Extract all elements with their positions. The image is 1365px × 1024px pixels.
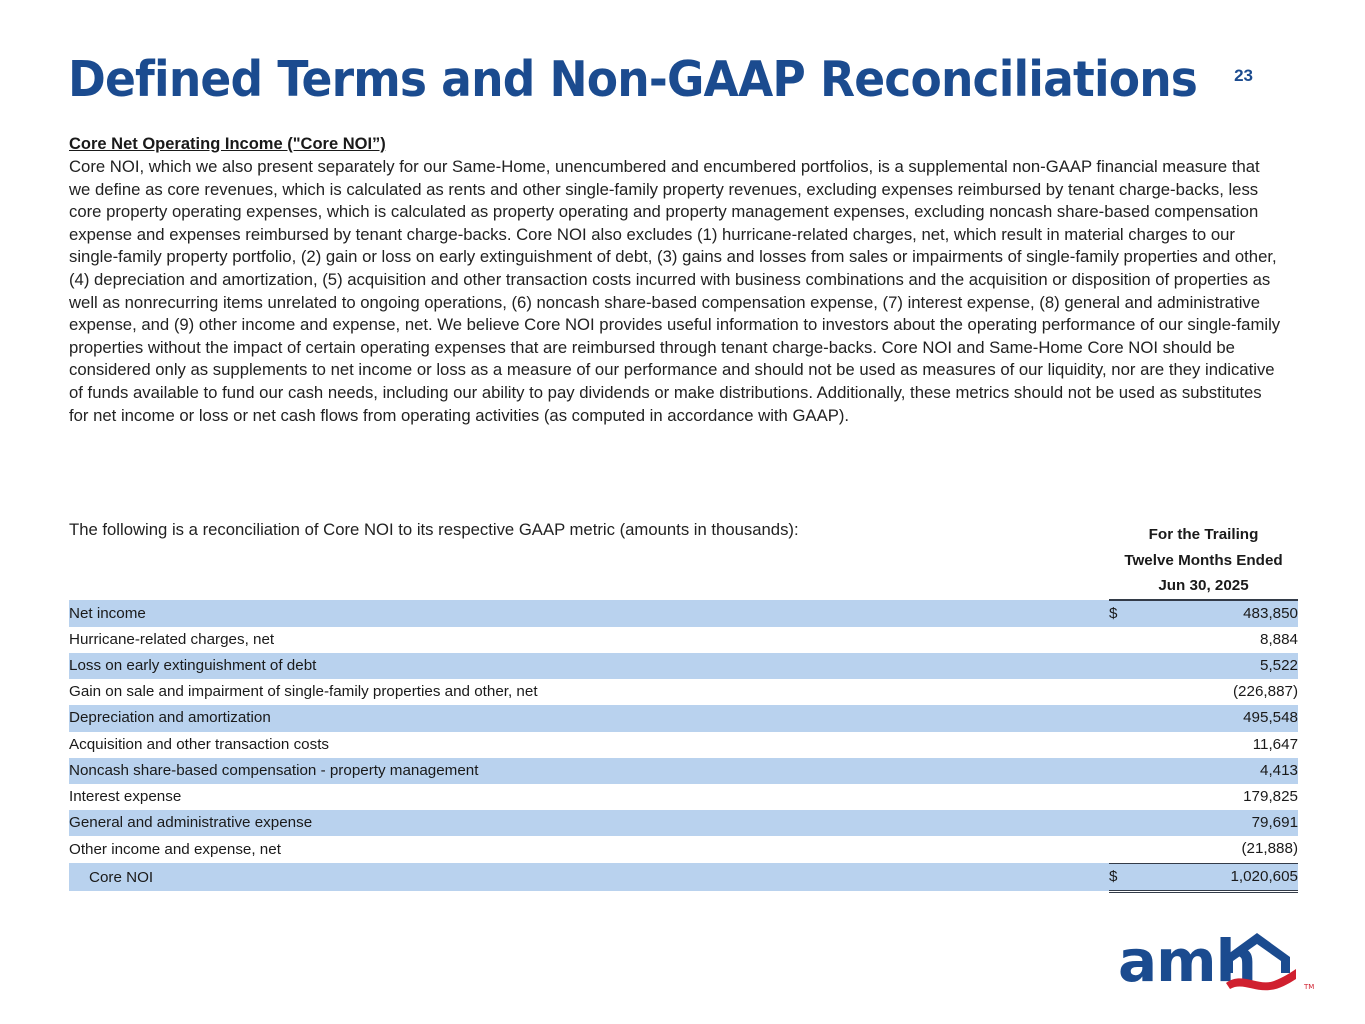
row-label: Hurricane-related charges, net (69, 627, 1109, 653)
definition-paragraph: Core NOI, which we also present separate… (69, 156, 1284, 427)
row-value: 5,522 (1147, 653, 1298, 679)
table-row: Gain on sale and impairment of single-fa… (69, 679, 1298, 705)
currency-symbol (1109, 653, 1147, 679)
table-row: Acquisition and other transaction costs1… (69, 732, 1298, 758)
currency-symbol (1109, 627, 1147, 653)
slide: Defined Terms and Non-GAAP Reconciliatio… (0, 0, 1365, 1024)
header-spacer (69, 522, 1109, 548)
table-row: Other income and expense, net(21,888) (69, 836, 1298, 863)
row-label: Net income (69, 600, 1109, 627)
table-body: Net income$483,850Hurricane-related char… (69, 600, 1298, 892)
row-label: General and administrative expense (69, 810, 1109, 836)
row-label: Loss on early extinguishment of debt (69, 653, 1109, 679)
row-value: 1,020,605 (1147, 863, 1298, 891)
row-label: Depreciation and amortization (69, 705, 1109, 731)
page-title: Defined Terms and Non-GAAP Reconciliatio… (68, 52, 1221, 108)
row-value: 4,413 (1147, 758, 1298, 784)
title-row: Defined Terms and Non-GAAP Reconciliatio… (68, 52, 1308, 114)
header-spacer (69, 548, 1109, 574)
currency-symbol (1109, 679, 1147, 705)
currency-symbol (1109, 784, 1147, 810)
table-row: Depreciation and amortization495,548 (69, 705, 1298, 731)
table-head: For the Trailing Twelve Months Ended Jun… (69, 522, 1298, 600)
row-value: 8,884 (1147, 627, 1298, 653)
currency-symbol: $ (1109, 600, 1147, 627)
currency-symbol (1109, 705, 1147, 731)
trademark-symbol: TM (1303, 983, 1314, 991)
currency-symbol (1109, 758, 1147, 784)
row-value: 11,647 (1147, 732, 1298, 758)
reconciliation-table: For the Trailing Twelve Months Ended Jun… (69, 522, 1298, 893)
table-row: Interest expense179,825 (69, 784, 1298, 810)
row-label: Noncash share-based compensation - prope… (69, 758, 1109, 784)
row-label: Interest expense (69, 784, 1109, 810)
row-value: 483,850 (1147, 600, 1298, 627)
table-row: General and administrative expense79,691 (69, 810, 1298, 836)
row-label: Core NOI (69, 863, 1109, 891)
column-header-line-1: For the Trailing (1109, 522, 1298, 548)
table-row: Noncash share-based compensation - prope… (69, 758, 1298, 784)
row-value: 495,548 (1147, 705, 1298, 731)
amh-logo: amh TM (1118, 925, 1318, 997)
definition-block: Core Net Operating Income ("Core NOI”) C… (69, 133, 1284, 427)
row-label: Gain on sale and impairment of single-fa… (69, 679, 1109, 705)
currency-symbol: $ (1109, 863, 1147, 891)
table-header-row-2: Twelve Months Ended (69, 548, 1298, 574)
definition-subheading: Core Net Operating Income ("Core NOI”) (69, 133, 1284, 155)
reconciliation-table-wrap: For the Trailing Twelve Months Ended Jun… (69, 522, 1298, 893)
table-row: Core NOI$1,020,605 (69, 863, 1298, 891)
page-number: 23 (1234, 66, 1253, 86)
currency-symbol (1109, 810, 1147, 836)
header-spacer (69, 573, 1109, 600)
currency-symbol (1109, 836, 1147, 863)
currency-symbol (1109, 732, 1147, 758)
row-value: (21,888) (1147, 836, 1298, 863)
row-label: Other income and expense, net (69, 836, 1109, 863)
column-header-line-3: Jun 30, 2025 (1109, 573, 1298, 600)
row-label: Acquisition and other transaction costs (69, 732, 1109, 758)
column-header-line-2: Twelve Months Ended (1109, 548, 1298, 574)
row-value: 79,691 (1147, 810, 1298, 836)
amh-logo-icon: amh TM (1118, 925, 1318, 997)
table-row: Loss on early extinguishment of debt5,52… (69, 653, 1298, 679)
table-header-row-1: For the Trailing (69, 522, 1298, 548)
table-row: Net income$483,850 (69, 600, 1298, 627)
row-value: 179,825 (1147, 784, 1298, 810)
table-row: Hurricane-related charges, net8,884 (69, 627, 1298, 653)
table-header-row-3: Jun 30, 2025 (69, 573, 1298, 600)
row-value: (226,887) (1147, 679, 1298, 705)
